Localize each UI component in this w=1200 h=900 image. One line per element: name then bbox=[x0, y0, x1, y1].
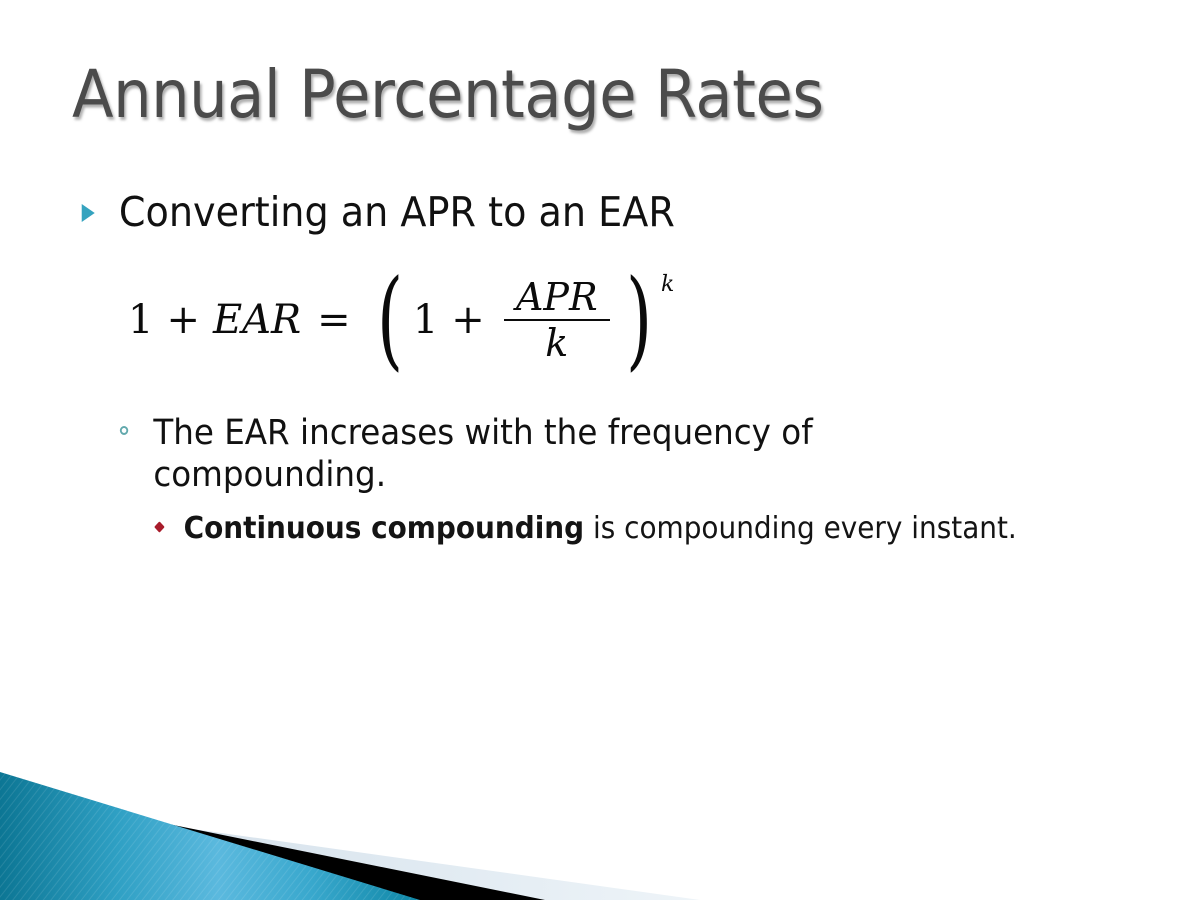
equation-lhs-variable: EAR bbox=[213, 300, 301, 340]
corner-banner-graphic bbox=[0, 750, 760, 900]
banner-pale-band bbox=[0, 802, 700, 900]
bullet-level2-label: The EAR increases with the frequency of … bbox=[153, 413, 812, 495]
equation-exponent: k bbox=[661, 274, 674, 296]
bullet-level1: Converting an APR to an EAR bbox=[78, 190, 1045, 236]
equation-rhs-one: 1 bbox=[413, 300, 438, 340]
equation-plus-first: + bbox=[166, 300, 200, 340]
bullet-level3-term: Continuous compounding bbox=[184, 511, 584, 546]
presentation-slide: Annual Percentage Rates Converting an AP… bbox=[0, 0, 1200, 900]
banner-teal-texture bbox=[0, 772, 420, 900]
banner-teal-band bbox=[0, 772, 420, 900]
equation-fraction: APR k bbox=[504, 278, 610, 362]
bullet-level3-definition: is compounding every instant. bbox=[584, 511, 1017, 546]
equation-close-paren: ) bbox=[626, 281, 652, 359]
equation-lhs-one: 1 bbox=[128, 300, 153, 340]
bottom-left-corner-banner bbox=[0, 750, 760, 900]
page-title: Annual Percentage Rates bbox=[72, 56, 824, 133]
banner-black-band bbox=[0, 790, 545, 900]
equation-apr-to-ear: 1 + EAR = ( 1 + APR k ) k bbox=[128, 278, 674, 362]
bullet-level2: The EAR increases with the frequency of … bbox=[118, 412, 935, 496]
hollow-circle-bullet-icon bbox=[120, 426, 128, 435]
equation-open-paren: ( bbox=[377, 281, 403, 359]
equation-plus-second: + bbox=[451, 300, 485, 340]
bullet-level1-label: Converting an APR to an EAR bbox=[119, 188, 675, 236]
equation-denominator: k bbox=[541, 321, 572, 362]
slide-body: Converting an APR to an EAR bbox=[78, 190, 1118, 236]
equation-equals-sign: = bbox=[317, 300, 351, 340]
diamond-bullet-icon bbox=[154, 521, 165, 532]
bullet-level3: Continuous compounding is compounding ev… bbox=[152, 510, 1021, 548]
equation-block: 1 + EAR = ( 1 + APR k ) k bbox=[128, 278, 674, 362]
triangle-bullet-icon bbox=[82, 204, 95, 222]
equation-numerator: APR bbox=[512, 278, 602, 319]
